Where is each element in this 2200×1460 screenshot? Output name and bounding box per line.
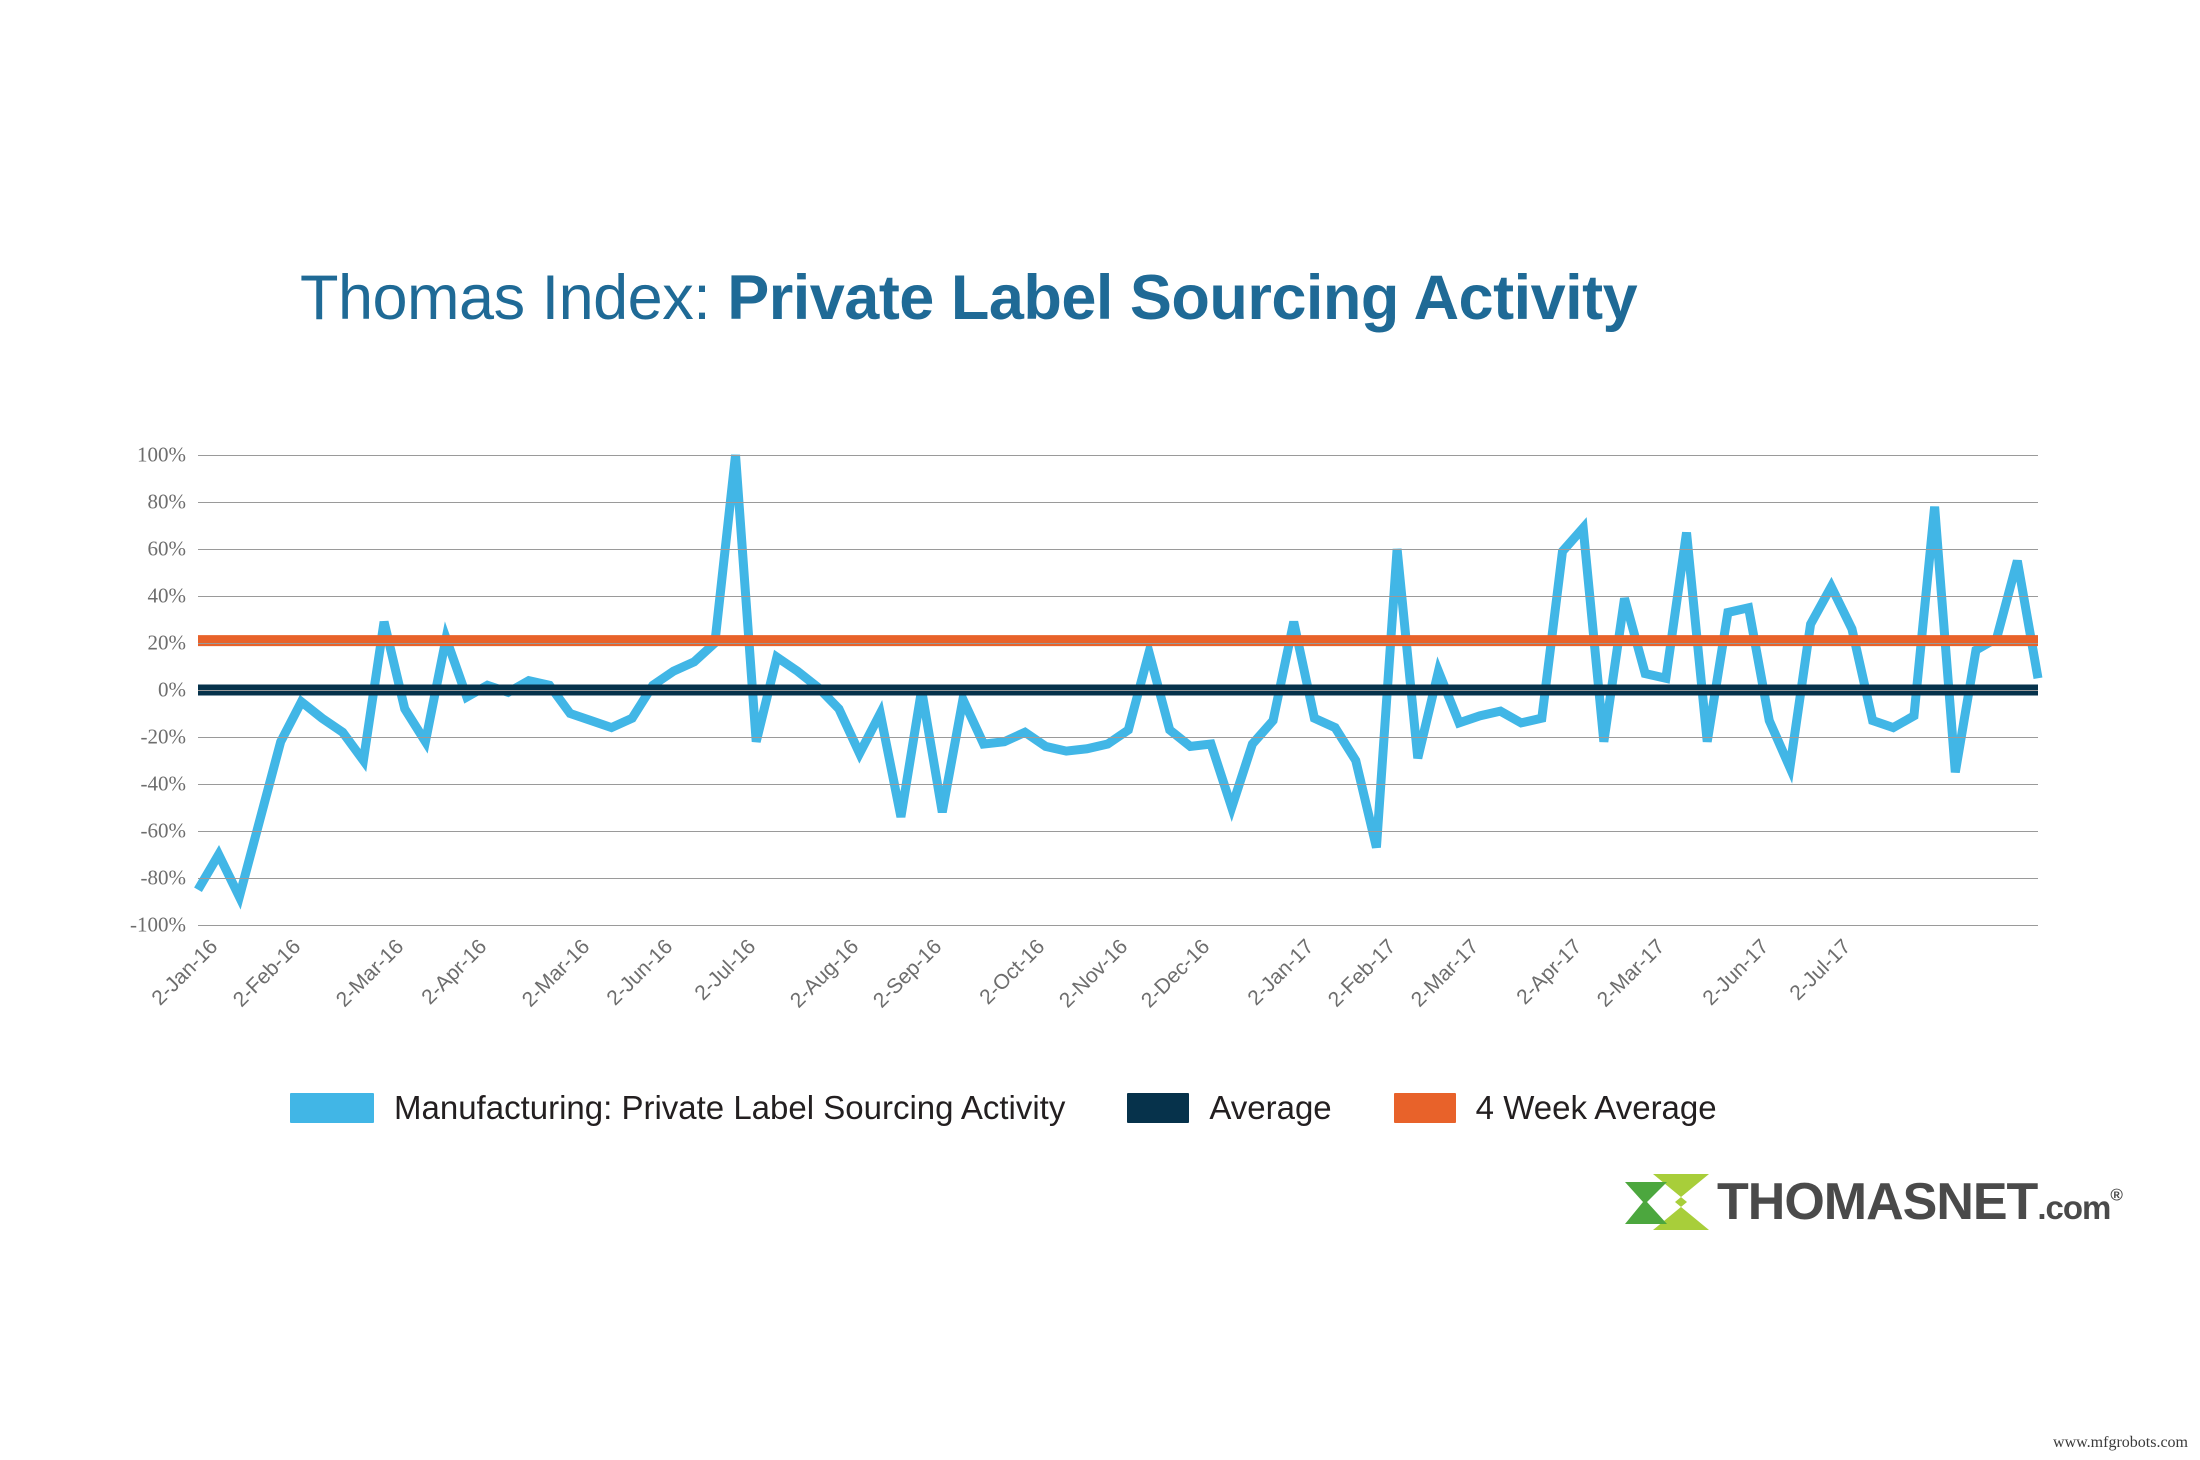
thomasnet-arrow-icon — [1625, 1172, 1709, 1232]
y-axis: 100%80%60%40%20%0%-20%-40%-60%-80%-100% — [0, 455, 186, 925]
gridline — [198, 455, 2038, 456]
gridline — [198, 784, 2038, 785]
legend-item[interactable]: 4 Week Average — [1394, 1089, 1717, 1127]
page-title: Thomas Index: Private Label Sourcing Act… — [300, 262, 1637, 334]
gridline — [198, 925, 2038, 926]
gridline — [198, 690, 2038, 691]
gridline — [198, 831, 2038, 832]
legend-color-swatch — [1127, 1093, 1189, 1123]
gridline — [198, 878, 2038, 879]
title-emphasis: Private Label Sourcing Activity — [727, 263, 1637, 333]
gridline — [198, 737, 2038, 738]
thomasnet-logo[interactable]: THOMASNET.com® — [1625, 1166, 2122, 1238]
gridline — [198, 502, 2038, 503]
y-axis-tick-label: -20% — [141, 725, 187, 750]
x-axis: 2-Jan-162-Feb-162-Mar-162-Apr-162-Mar-16… — [198, 935, 2038, 1075]
y-axis-tick-label: 0% — [158, 678, 186, 703]
y-axis-tick-label: 20% — [148, 631, 187, 656]
y-axis-tick-label: -40% — [141, 772, 187, 797]
gridline — [198, 643, 2038, 644]
y-axis-tick-label: -80% — [141, 866, 187, 891]
logo-wordmark: THOMASNET.com® — [1717, 1176, 2122, 1228]
gridline — [198, 549, 2038, 550]
title-prefix: Thomas Index: — [300, 263, 727, 333]
y-axis-tick-label: 60% — [148, 537, 187, 562]
logo-registered-mark: ® — [2110, 1186, 2122, 1205]
gridline — [198, 596, 2038, 597]
y-axis-tick-label: 100% — [137, 443, 186, 468]
legend-item[interactable]: Average — [1127, 1089, 1331, 1127]
y-axis-tick-label: -60% — [141, 819, 187, 844]
logo-suffix: .com — [2037, 1189, 2110, 1226]
plot-area — [198, 455, 2038, 925]
y-axis-tick-label: 80% — [148, 490, 187, 515]
legend-item[interactable]: Manufacturing: Private Label Sourcing Ac… — [290, 1089, 1065, 1127]
y-axis-tick-label: -100% — [130, 913, 186, 938]
chart-legend: Manufacturing: Private Label Sourcing Ac… — [290, 1086, 1717, 1130]
logo-name: THOMASNET — [1717, 1173, 2037, 1231]
legend-label: 4 Week Average — [1476, 1089, 1717, 1127]
legend-color-swatch — [1394, 1093, 1456, 1123]
legend-label: Manufacturing: Private Label Sourcing Ac… — [394, 1089, 1065, 1127]
legend-label: Average — [1209, 1089, 1331, 1127]
watermark: www.mfgrobots.com — [2053, 1434, 2188, 1452]
y-axis-tick-label: 40% — [148, 584, 187, 609]
legend-color-swatch — [290, 1093, 374, 1123]
